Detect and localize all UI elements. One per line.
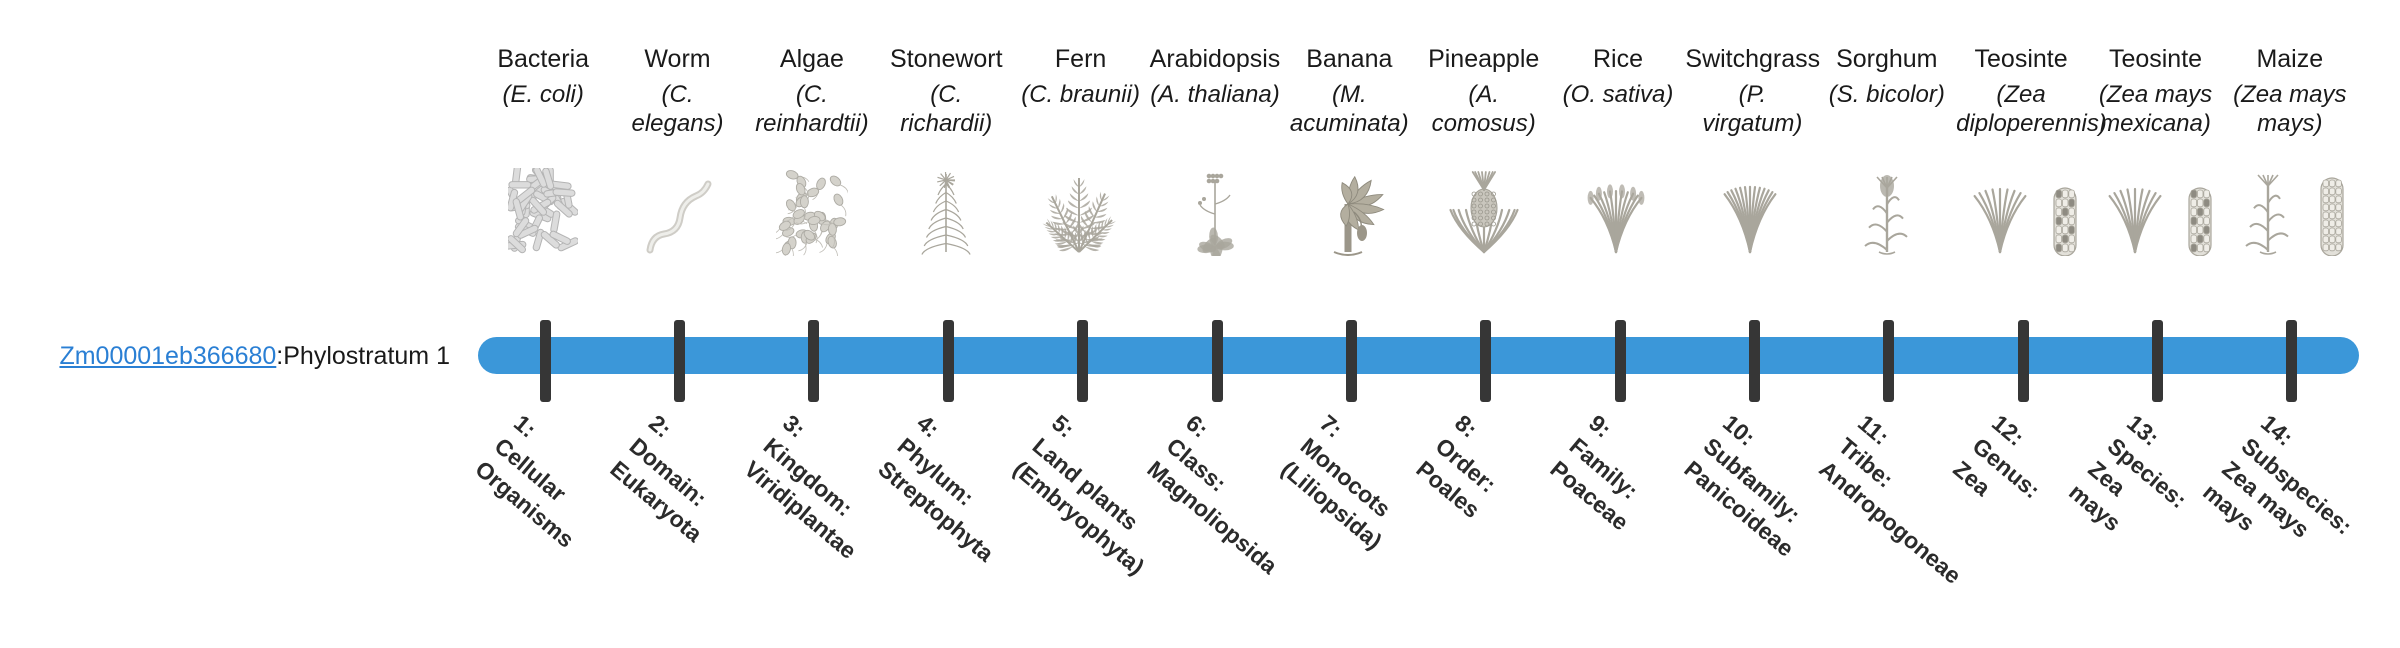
- organism-scientific-name: (C. reinhardtii): [745, 80, 879, 138]
- bacteria-rods-icon: [476, 164, 610, 256]
- stonewort-alga-icon: [879, 164, 1013, 256]
- organism-column: Arabidopsis(A. thaliana): [1148, 44, 1282, 294]
- phylostratum-tick: [1212, 320, 1223, 402]
- organism-common-name: Worm: [611, 44, 745, 74]
- organism-common-name: Fern: [1014, 44, 1148, 74]
- phylostratum-tick: [1749, 320, 1760, 402]
- teosinte-plant-and-ear-icon: [2089, 164, 2223, 256]
- green-algae-cells-icon: [745, 164, 879, 256]
- organism-column: Stonewort(C. richardii): [879, 44, 1013, 294]
- phylostratum-tick: [1615, 320, 1626, 402]
- phylostratum-tick: [808, 320, 819, 402]
- phylostratum-tick: [674, 320, 685, 402]
- sorghum-plant-icon: [1820, 164, 1954, 256]
- organism-column: Pineapple(A. comosus): [1417, 44, 1551, 294]
- organism-common-name: Teosinte: [1954, 44, 2088, 74]
- organism-common-name: Rice: [1551, 44, 1685, 74]
- organism-scientific-name: (O. sativa): [1551, 80, 1685, 109]
- organism-common-name: Arabidopsis: [1148, 44, 1282, 74]
- organism-column: Bacteria(E. coli): [476, 44, 610, 294]
- phylostratum-figure: Zm00001eb366680: Phylostratum 1 Bacteria…: [0, 0, 2400, 580]
- switchgrass-plant-icon: [1685, 164, 1819, 256]
- teosinte-plant-and-ear-icon: [1954, 164, 2088, 256]
- banana-plant-icon: [1282, 164, 1416, 256]
- organism-scientific-name: (M. acuminata): [1282, 80, 1416, 138]
- phylostratum-tick: [2286, 320, 2297, 402]
- organism-common-name: Teosinte: [2089, 44, 2223, 74]
- phylostratum-tick: [1480, 320, 1491, 402]
- organism-scientific-name: (P. virgatum): [1685, 80, 1819, 138]
- phylostratum-tick: [540, 320, 551, 402]
- organism-scientific-name: (Zea mays mays): [2223, 80, 2357, 138]
- organism-scientific-name: (C. richardii): [879, 80, 1013, 138]
- organism-common-name: Pineapple: [1417, 44, 1551, 74]
- organism-common-name: Sorghum: [1820, 44, 1954, 74]
- phylostratum-tick: [2018, 320, 2029, 402]
- organism-scientific-name: (A. thaliana): [1148, 80, 1282, 109]
- organism-common-name: Banana: [1282, 44, 1416, 74]
- organism-scientific-name: (E. coli): [476, 80, 610, 109]
- phylostratum-value: Phylostratum 1: [283, 342, 450, 371]
- organism-common-name: Algae: [745, 44, 879, 74]
- organism-column: Teosinte(Zea mays mexicana): [2089, 44, 2223, 294]
- fern-frond-icon: [1014, 164, 1148, 256]
- rice-plant-icon: [1551, 164, 1685, 256]
- organism-column: Switchgrass(P. virgatum): [1685, 44, 1819, 294]
- organism-scientific-name: (C. braunii): [1014, 80, 1148, 109]
- organism-column: Sorghum(S. bicolor): [1820, 44, 1954, 294]
- phylostratum-tick: [1346, 320, 1357, 402]
- nematode-worm-icon: [611, 164, 745, 256]
- phylostratum-tick: [1883, 320, 1894, 402]
- organism-scientific-name: (C. elegans): [611, 80, 745, 138]
- organism-column: Fern(C. braunii): [1014, 44, 1148, 294]
- organism-column: Maize(Zea mays mays): [2223, 44, 2357, 294]
- gene-phylostratum-label: Zm00001eb366680: Phylostratum 1: [0, 336, 462, 376]
- gene-id-link[interactable]: Zm00001eb366680: [59, 342, 276, 371]
- organism-common-name: Maize: [2223, 44, 2357, 74]
- organism-common-name: Stonewort: [879, 44, 1013, 74]
- organism-common-name: Bacteria: [476, 44, 610, 74]
- organism-column: Algae(C. reinhardtii): [745, 44, 879, 294]
- maize-plant-and-cob-icon: [2223, 164, 2357, 256]
- organism-column: Teosinte(Zea diploperennis): [1954, 44, 2088, 294]
- pineapple-plant-icon: [1417, 164, 1551, 256]
- organism-scientific-name: (A. comosus): [1417, 80, 1551, 138]
- phylostratum-tick: [2152, 320, 2163, 402]
- phylostratum-bar: [478, 337, 2359, 374]
- organism-scientific-name: (S. bicolor): [1820, 80, 1954, 109]
- phylostratum-tick: [943, 320, 954, 402]
- gene-separator: :: [276, 342, 283, 371]
- arabidopsis-rosette-icon: [1148, 164, 1282, 256]
- organism-columns: Bacteria(E. coli)Worm(C. elegans)Algae(C…: [477, 44, 2361, 294]
- organism-column: Rice(O. sativa): [1551, 44, 1685, 294]
- organism-scientific-name: (Zea mays mexicana): [2089, 80, 2223, 138]
- phylostratum-tick: [1077, 320, 1088, 402]
- organism-common-name: Switchgrass: [1685, 44, 1819, 74]
- organism-scientific-name: (Zea diploperennis): [1954, 80, 2088, 138]
- organism-column: Banana(M. acuminata): [1282, 44, 1416, 294]
- organism-column: Worm(C. elegans): [611, 44, 745, 294]
